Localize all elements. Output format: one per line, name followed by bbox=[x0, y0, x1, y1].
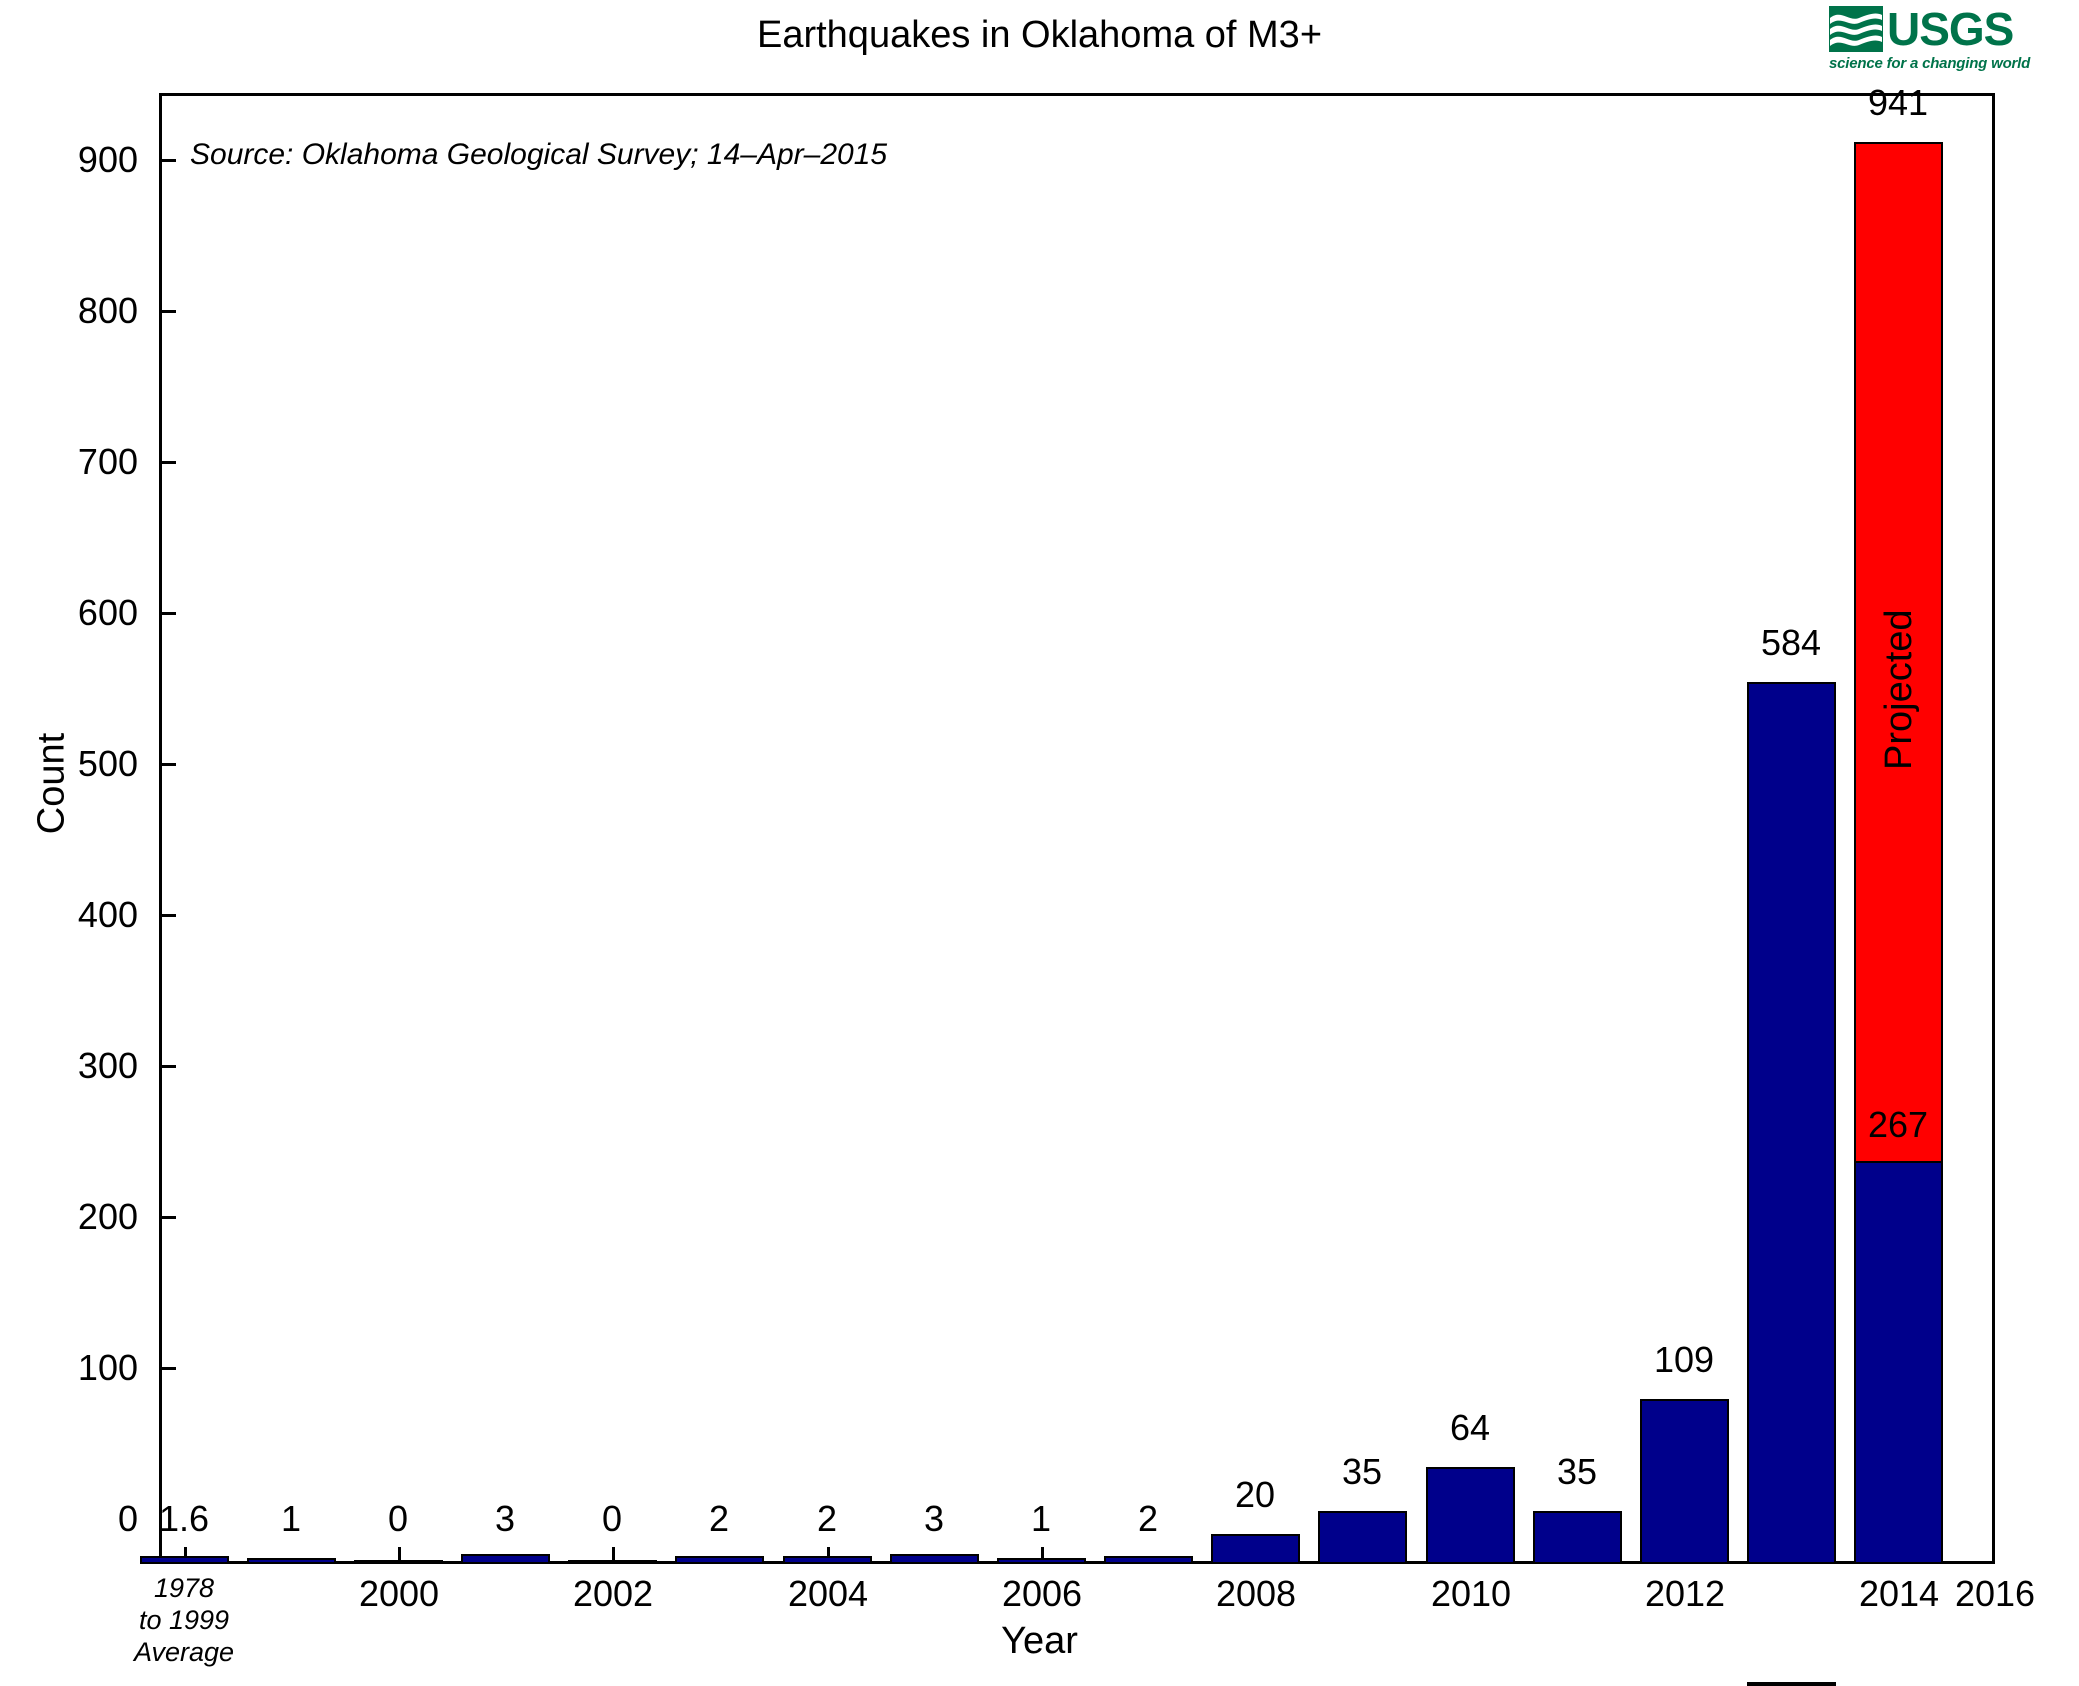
y-tick-mark-900 bbox=[159, 159, 176, 162]
x-tick-label-2016: 2016 bbox=[1885, 1576, 2079, 1612]
bar-2015-observed[interactable] bbox=[1854, 1161, 1943, 1564]
bar-2004[interactable] bbox=[675, 1556, 764, 1564]
bar-2012[interactable] bbox=[1533, 1511, 1622, 1564]
x-tick-label-2008: 2008 bbox=[1146, 1576, 1366, 1612]
y-tick-label-800: 800 bbox=[18, 293, 138, 329]
y-tick-mark-700 bbox=[159, 461, 176, 464]
bar-value-2015-observed: 267 bbox=[1808, 1107, 1988, 1143]
y-tick-mark-600 bbox=[159, 612, 176, 615]
x-tick-label-2004: 2004 bbox=[718, 1576, 938, 1612]
y-tick-label-200: 200 bbox=[18, 1199, 138, 1235]
bar-2007[interactable] bbox=[997, 1558, 1086, 1564]
y-tick-mark-800 bbox=[159, 310, 176, 313]
y-tick-mark-400 bbox=[159, 914, 176, 917]
bar-2003[interactable] bbox=[568, 1560, 657, 1564]
bar-value-2010: 35 bbox=[1272, 1454, 1452, 1490]
bar-2005[interactable] bbox=[783, 1556, 872, 1564]
y-tick-label-300: 300 bbox=[18, 1048, 138, 1084]
x-tick-label-2000: 2000 bbox=[289, 1576, 509, 1612]
y-tick-label-600: 600 bbox=[18, 595, 138, 631]
bar-2013[interactable] bbox=[1640, 1399, 1729, 1564]
bar-2000[interactable] bbox=[247, 1558, 336, 1564]
bar-2002[interactable] bbox=[461, 1554, 550, 1564]
bar-value-2011: 64 bbox=[1380, 1410, 1560, 1446]
y-tick-mark-300 bbox=[159, 1065, 176, 1068]
y-tick-label-400: 400 bbox=[18, 897, 138, 933]
bar-2001[interactable] bbox=[354, 1560, 443, 1564]
projected-label: Projected bbox=[1880, 609, 1918, 770]
y-tick-label-900: 900 bbox=[18, 142, 138, 178]
x-tick-label-2006: 2006 bbox=[932, 1576, 1152, 1612]
bar-value-2015-projected: 941 bbox=[1808, 85, 1988, 121]
x-tick-label-2012: 2012 bbox=[1575, 1576, 1795, 1612]
y-tick-mark-100 bbox=[159, 1367, 176, 1370]
bar-average[interactable] bbox=[140, 1556, 229, 1564]
y-tick-label-700: 700 bbox=[18, 444, 138, 480]
y-tick-mark-500 bbox=[159, 763, 176, 766]
x-tick-label-2010: 2010 bbox=[1361, 1576, 1581, 1612]
x-axis-label: Year bbox=[0, 1620, 2079, 1663]
x-tick-label-average-line1: 1978 bbox=[69, 1572, 299, 1604]
bar-2006[interactable] bbox=[890, 1554, 979, 1564]
x-tick-label-2002: 2002 bbox=[503, 1576, 723, 1612]
y-tick-mark-200 bbox=[159, 1216, 176, 1219]
chart-figure: Earthquakes in Oklahoma of M3+ USGS scie… bbox=[0, 0, 2079, 1679]
bar-2009[interactable] bbox=[1211, 1534, 1300, 1564]
bar-2010[interactable] bbox=[1318, 1511, 1407, 1564]
bar-2008[interactable] bbox=[1104, 1556, 1193, 1564]
y-tick-label-500: 500 bbox=[18, 746, 138, 782]
y-tick-label-100: 100 bbox=[18, 1350, 138, 1386]
bar-2014-placeholder bbox=[1747, 1682, 1836, 1686]
